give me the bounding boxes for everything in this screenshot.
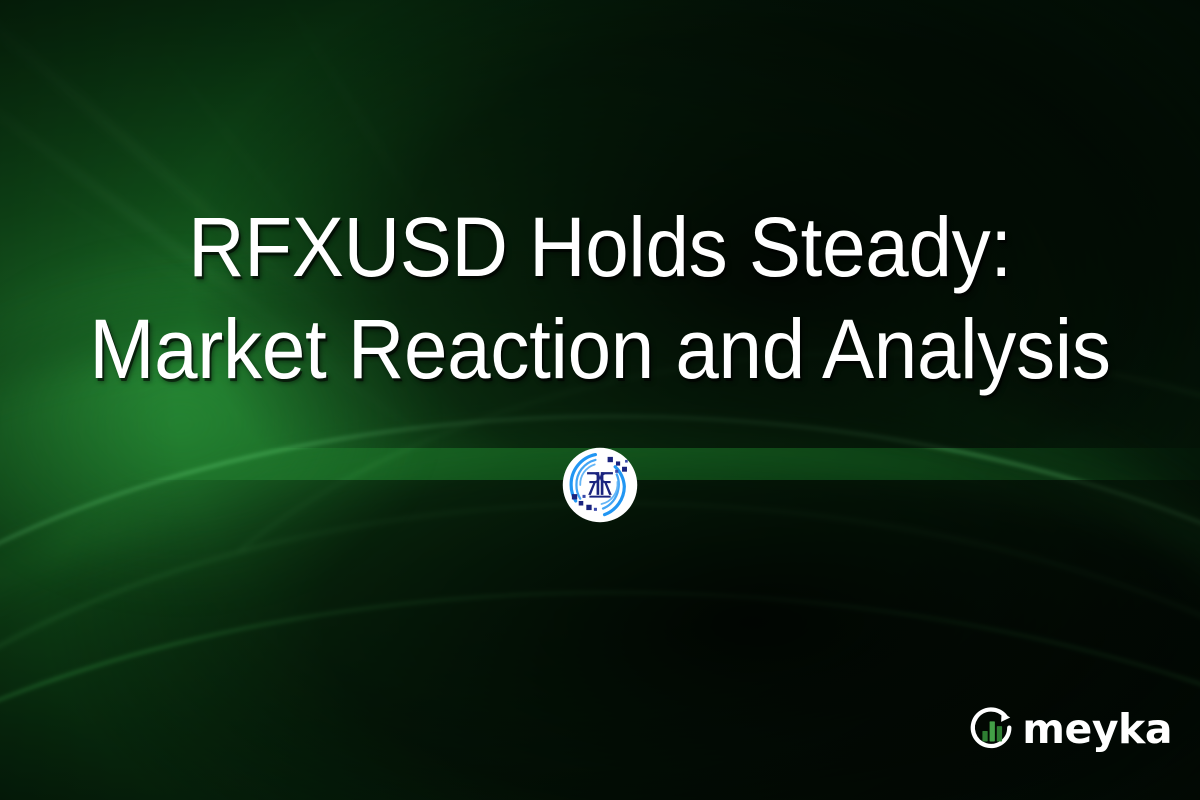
bar-chart-in-circle-icon bbox=[968, 706, 1016, 754]
title-line-2: Market Reaction and Analysis bbox=[42, 298, 1158, 400]
title-line-1: RFXUSD Holds Steady: bbox=[42, 196, 1158, 298]
rfx-monogram-logo bbox=[562, 447, 638, 523]
meyka-logo: meyka bbox=[968, 706, 1172, 754]
banner-canvas: RFXUSD Holds Steady: Market Reaction and… bbox=[0, 0, 1200, 800]
banner-title: RFXUSD Holds Steady: Market Reaction and… bbox=[0, 196, 1200, 400]
meyka-wordmark: meyka bbox=[1022, 709, 1172, 750]
background-vignette bbox=[0, 0, 1200, 800]
background-artwork bbox=[0, 0, 1200, 800]
